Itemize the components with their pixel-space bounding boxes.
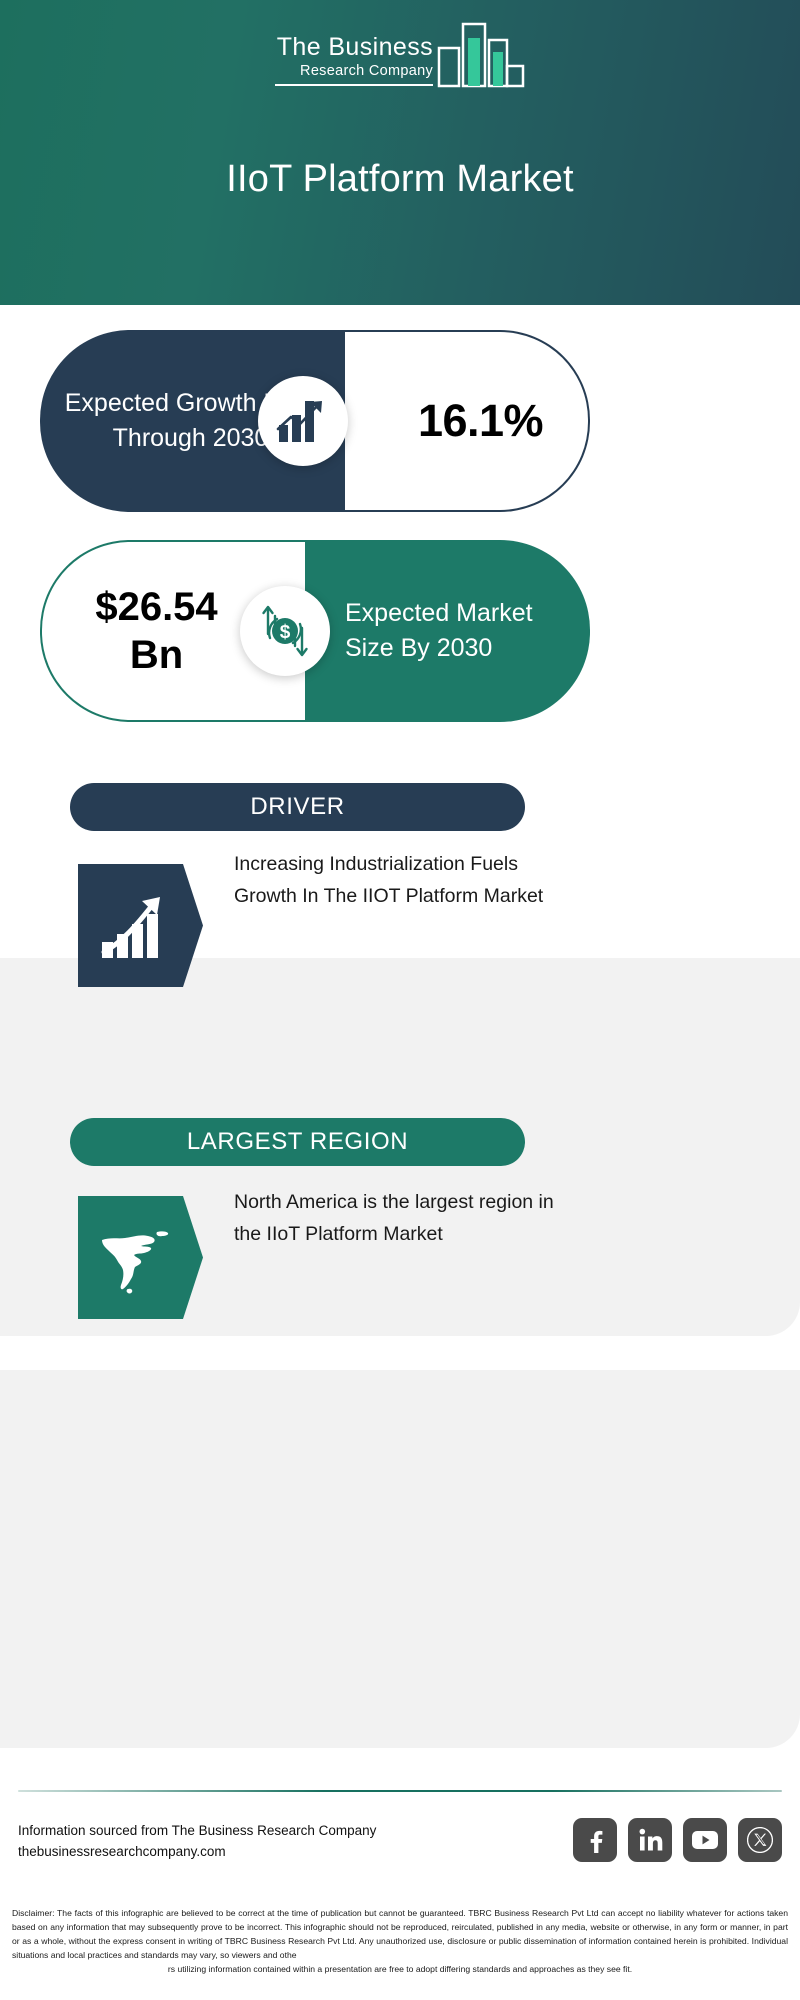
page-title: IIoT Platform Market bbox=[0, 158, 800, 201]
stat-card-market-size-value-line2: Bn bbox=[130, 633, 183, 677]
growth-bar-chart-arrow-icon bbox=[258, 376, 348, 466]
linkedin-icon[interactable] bbox=[628, 1818, 672, 1862]
disclaimer-last: rs utilizing information contained withi… bbox=[12, 1962, 788, 1976]
largest-region-pill: LARGEST REGION bbox=[70, 1118, 525, 1166]
footer-source-line1: Information sourced from The Business Re… bbox=[18, 1820, 376, 1841]
footer-source-line2[interactable]: thebusinessresearchcompany.com bbox=[18, 1841, 376, 1862]
x-twitter-icon[interactable] bbox=[738, 1818, 782, 1862]
largest-region-panel bbox=[0, 1370, 800, 1748]
youtube-icon[interactable] bbox=[683, 1818, 727, 1862]
driver-body-text: Increasing Industrialization Fuels Growt… bbox=[234, 848, 574, 912]
largest-region-body-text: North America is the largest region in t… bbox=[234, 1186, 574, 1250]
dollar-circular-arrows-icon: $ bbox=[240, 586, 330, 676]
footer-source: Information sourced from The Business Re… bbox=[18, 1820, 376, 1862]
largest-region-pill-label: LARGEST REGION bbox=[187, 1128, 408, 1156]
driver-pill: DRIVER bbox=[70, 783, 525, 831]
stat-card-market-size-label-panel: Expected Market Size By 2030 bbox=[305, 540, 590, 722]
footer-divider bbox=[18, 1790, 782, 1792]
disclaimer-text: Disclaimer: The facts of this infographi… bbox=[12, 1906, 788, 1976]
growth-arrow-bars-icon bbox=[78, 864, 203, 987]
header-banner: The Business Research Company IIoT Platf… bbox=[0, 0, 800, 305]
brand-logo: The Business Research Company bbox=[0, 22, 800, 90]
brand-logo-line2: Research Company bbox=[275, 62, 433, 80]
facebook-icon[interactable] bbox=[573, 1818, 617, 1862]
stat-card-market-size-value-line1: $26.54 bbox=[95, 585, 217, 629]
bar-chart-logo-icon bbox=[437, 22, 525, 88]
stat-card-market-size-label: Expected Market Size By 2030 bbox=[305, 596, 590, 666]
brand-logo-text: The Business Research Company bbox=[275, 33, 433, 90]
stat-card-growth-rate-value: 16.1% bbox=[390, 395, 543, 447]
stat-card-growth-rate-value-panel: 16.1% bbox=[345, 330, 590, 512]
stat-card-market-size-value: $26.54 Bn bbox=[95, 583, 251, 679]
disclaimer-main: Disclaimer: The facts of this infographi… bbox=[12, 1908, 788, 1960]
brand-logo-line1: The Business bbox=[275, 33, 433, 61]
social-links bbox=[573, 1818, 782, 1862]
driver-pill-label: DRIVER bbox=[250, 793, 344, 821]
north-america-map-icon bbox=[78, 1196, 203, 1319]
infographic-page: The Business Research Company IIoT Platf… bbox=[0, 0, 800, 2000]
brand-logo-underline bbox=[275, 84, 433, 86]
svg-text:$: $ bbox=[280, 622, 291, 643]
